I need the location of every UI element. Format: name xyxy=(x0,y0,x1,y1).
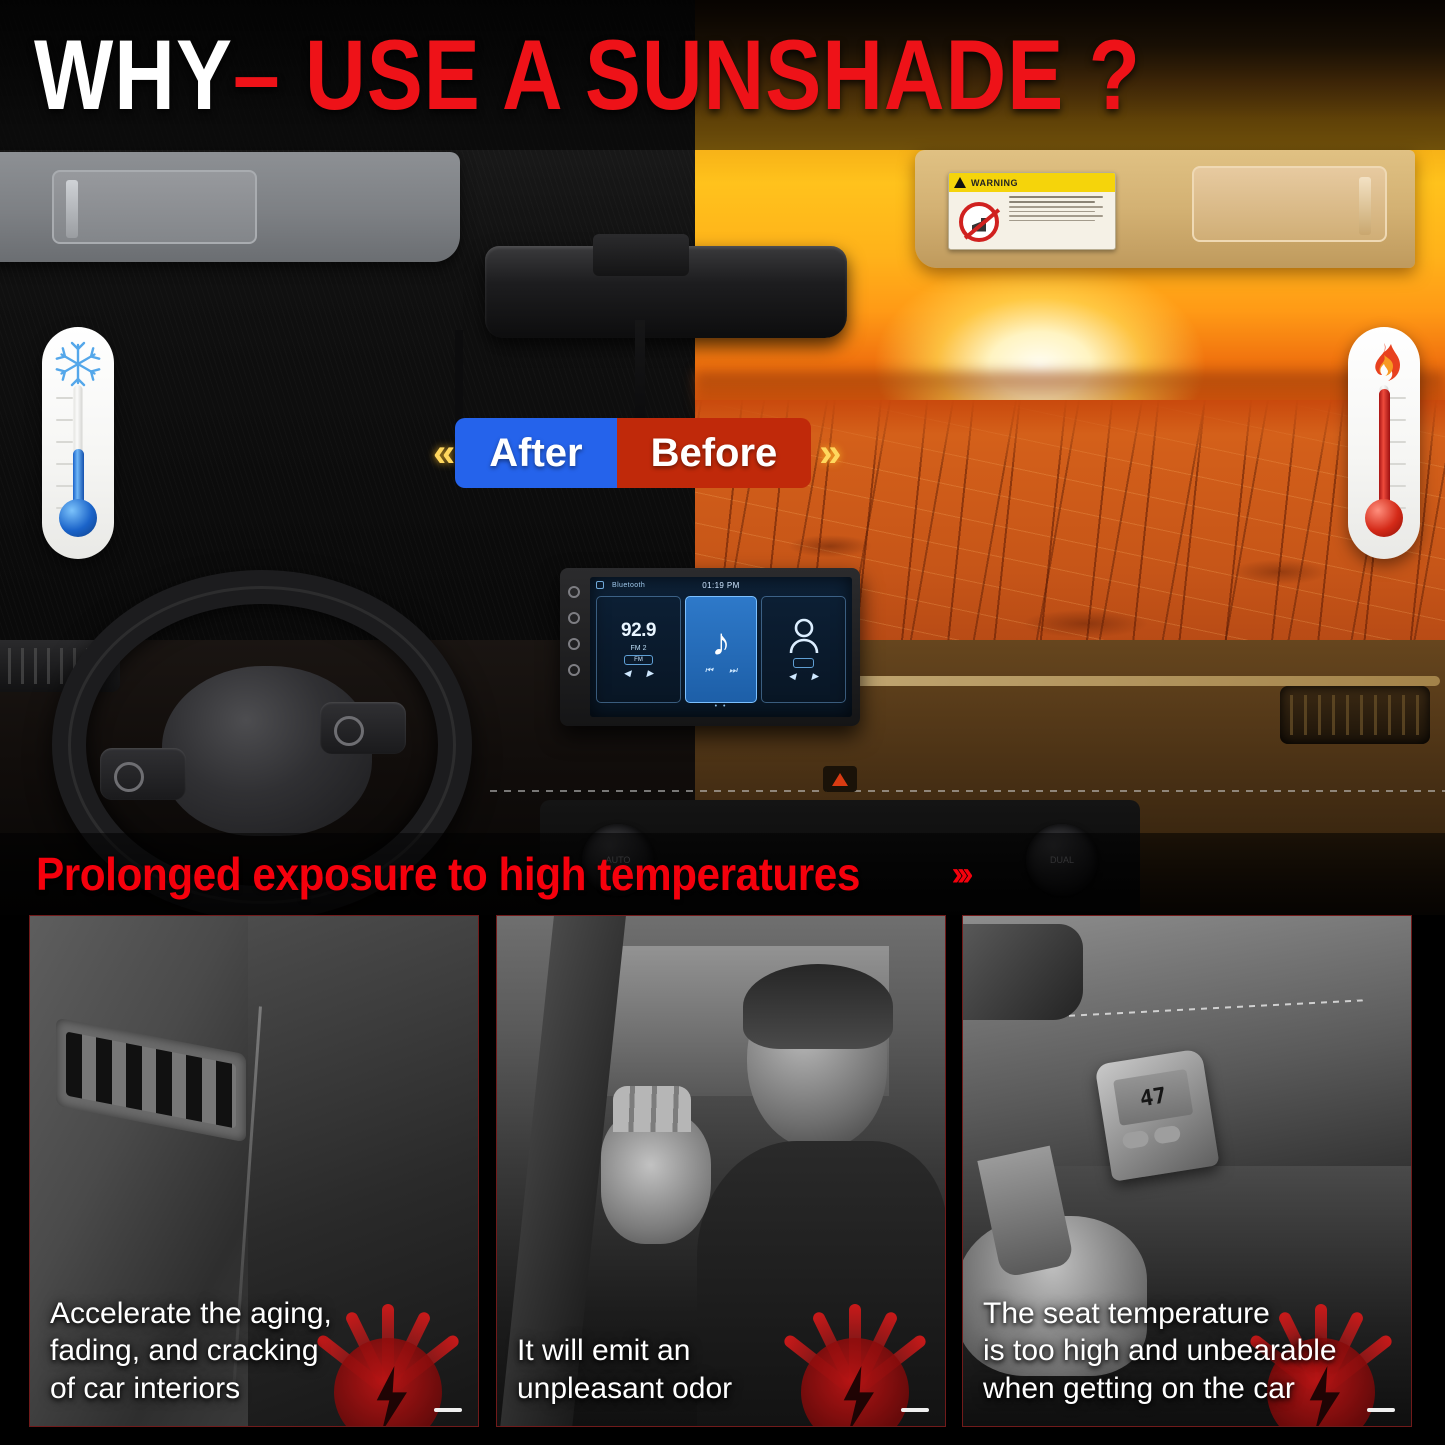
thermometer-tube-cold xyxy=(74,385,83,511)
airbag-warning-label: WARNING xyxy=(948,172,1116,250)
consequence-panels: Accelerate the aging, fading, and cracki… xyxy=(0,915,1445,1445)
panel-unpleasant-odor: It will emit an unpleasant odor xyxy=(496,915,946,1427)
thermometer-bulb-hot xyxy=(1365,499,1403,537)
thermometer-buttons xyxy=(1122,1125,1182,1150)
vanity-mirror-cover-right xyxy=(1192,166,1387,242)
band-chevrons-icon: ››› xyxy=(952,855,968,894)
panel-caption: It will emit an unpleasant odor xyxy=(517,1332,931,1408)
bluetooth-icon xyxy=(596,581,604,589)
rewind-icon[interactable]: ⏮ xyxy=(705,665,713,676)
warning-label-text-lines xyxy=(1009,192,1115,250)
before-badge[interactable]: Before xyxy=(617,418,812,488)
thermometer-reading: 47 xyxy=(1113,1069,1193,1126)
caption-underscore xyxy=(901,1408,929,1412)
after-badge[interactable]: After xyxy=(455,418,616,488)
warning-triangle-icon xyxy=(954,177,966,188)
thermometer-bulb-cold xyxy=(59,499,97,537)
panel-interior-aging: Accelerate the aging, fading, and cracki… xyxy=(29,915,479,1427)
mute-button-icon[interactable] xyxy=(568,638,580,650)
media-card[interactable]: ♪ ⏮ ⏭ xyxy=(685,596,757,703)
infotainment-head-unit: Bluetooth 01:19 PM 92.9 FM 2 FM ◀ ▶ ♪ xyxy=(560,568,860,726)
thermometer-fill-hot xyxy=(1379,389,1390,511)
sun-visor-left xyxy=(0,152,460,262)
contact-next-icon[interactable]: ▶ xyxy=(812,671,819,682)
caption-underscore xyxy=(1367,1408,1395,1412)
radio-card[interactable]: 92.9 FM 2 FM ◀ ▶ xyxy=(596,596,681,703)
double-chevron-left-icon: « xyxy=(425,431,455,476)
warning-label-body xyxy=(949,192,1115,250)
phone-call-chip[interactable] xyxy=(793,658,815,668)
person-contact-icon xyxy=(787,617,821,655)
dashboard-stitching xyxy=(490,790,1445,792)
before-after-badges: « After Before » xyxy=(425,418,842,488)
head-unit-side-buttons[interactable] xyxy=(568,586,580,676)
hazard-light-button[interactable] xyxy=(823,766,857,792)
heat-warning-text: Prolonged exposure to high temperatures xyxy=(36,847,860,901)
panel-seat-temperature: 47 The seat temperature is too high and … xyxy=(962,915,1412,1427)
hot-thermometer xyxy=(1348,327,1420,559)
steering-control-right xyxy=(320,702,406,754)
screen-page-dots: • • xyxy=(590,703,852,710)
audio-source-label: Bluetooth xyxy=(612,582,645,589)
contact-prev-icon[interactable]: ◀ xyxy=(789,671,796,682)
heat-warning-band: Prolonged exposure to high temperatures … xyxy=(0,833,1445,915)
air-vent-right xyxy=(1280,686,1430,744)
person-hair xyxy=(743,964,893,1049)
screen-cards: 92.9 FM 2 FM ◀ ▶ ♪ ⏮ ⏭ xyxy=(590,593,852,703)
fanning-hand xyxy=(601,1112,711,1244)
volume-button-icon[interactable] xyxy=(568,612,580,624)
cold-thermometer xyxy=(42,327,114,559)
seek-prev-icon[interactable]: ◀ xyxy=(624,668,631,679)
steering-control-left xyxy=(100,748,186,800)
dashboard-vent xyxy=(56,1018,246,1143)
phone-card[interactable]: ◀ ▶ xyxy=(761,596,846,703)
infotainment-screen[interactable]: Bluetooth 01:19 PM 92.9 FM 2 FM ◀ ▶ ♪ xyxy=(590,577,852,717)
panel-caption: Accelerate the aging, fading, and cracki… xyxy=(50,1295,464,1408)
screen-status-bar: Bluetooth 01:19 PM xyxy=(590,577,852,593)
phone-nav-controls[interactable]: ◀ ▶ xyxy=(789,671,819,682)
title-white-part: WHY xyxy=(34,18,233,132)
wristwatch xyxy=(962,924,1083,1020)
rearview-mirror xyxy=(485,246,847,338)
poster-title: WHY – USE A SUNSHADE ? xyxy=(0,0,1445,150)
warning-label-heading: WARNING xyxy=(971,178,1018,188)
forward-icon[interactable]: ⏭ xyxy=(729,665,737,676)
sunshade-product-poster: WARNING xyxy=(0,0,1445,1445)
radio-band: FM 2 xyxy=(631,645,647,652)
media-transport-controls[interactable]: ⏮ ⏭ xyxy=(705,665,737,676)
music-note-icon: ♪ xyxy=(712,624,731,662)
title-red-part: – USE A SUNSHADE ? xyxy=(233,18,1141,132)
thermometer-tube-hot xyxy=(1380,385,1389,511)
mirror-stem xyxy=(455,330,463,430)
caption-underscore xyxy=(434,1408,462,1412)
radio-frequency: 92.9 xyxy=(621,620,656,642)
radio-band-chip[interactable]: FM xyxy=(624,655,653,665)
seek-next-icon[interactable]: ▶ xyxy=(647,668,654,679)
infrared-thermometer-gun: 47 xyxy=(1094,1048,1219,1181)
no-child-seat-icon xyxy=(949,192,1009,250)
double-chevron-right-icon: » xyxy=(811,431,841,476)
vanity-mirror-cover-left xyxy=(52,170,257,244)
power-button-icon[interactable] xyxy=(568,586,580,598)
clock-label: 01:19 PM xyxy=(702,581,739,590)
radio-seek-controls[interactable]: ◀ ▶ xyxy=(624,668,654,679)
home-button-icon[interactable] xyxy=(568,664,580,676)
panel-caption: The seat temperature is too high and unb… xyxy=(983,1295,1397,1408)
hazard-triangle-icon xyxy=(832,773,848,786)
warning-label-header: WARNING xyxy=(949,173,1115,192)
